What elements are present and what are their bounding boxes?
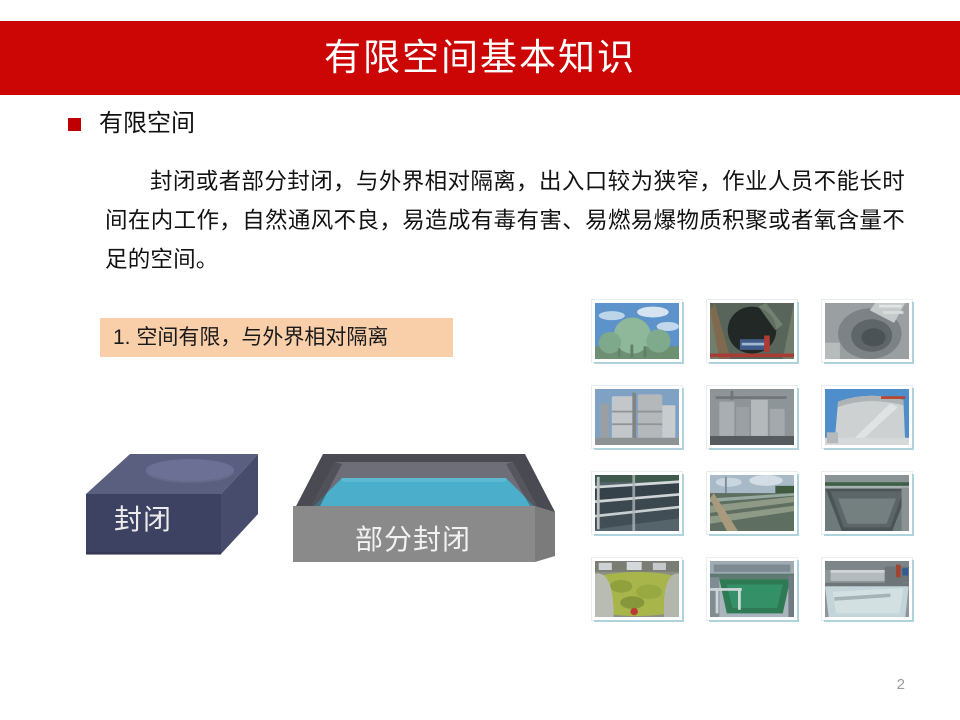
photo-thumbnail[interactable] bbox=[822, 300, 912, 362]
photo-thumbnail[interactable] bbox=[707, 386, 797, 448]
photo-thumbnail[interactable] bbox=[822, 386, 912, 448]
bullet-heading: 有限空间 bbox=[68, 112, 195, 136]
photo-thumbnail[interactable] bbox=[592, 558, 682, 620]
photo-open-aeration-pool bbox=[825, 561, 909, 617]
photo-tunnel-shaft-interior bbox=[710, 303, 794, 359]
highlight-callout-text: 1. 空间有限，与外界相对隔离 bbox=[100, 327, 388, 348]
square-bullet-icon bbox=[68, 118, 81, 131]
partially-closed-container-label: 部分封闭 bbox=[355, 526, 471, 554]
definition-paragraph: 封闭或者部分封闭，与外界相对隔离，出入口较为狭窄，作业人员不能长时间在内工作，自… bbox=[105, 162, 905, 279]
photo-thumbnail[interactable] bbox=[592, 472, 682, 534]
slide-canvas: 有限空间基本知识 有限空间 封闭或者部分封闭，与外界相对隔离，出入口较为狭窄，作… bbox=[0, 0, 960, 720]
closed-container-illustration bbox=[78, 452, 273, 567]
page-title: 有限空间基本知识 bbox=[324, 40, 636, 77]
photo-thumbnail[interactable] bbox=[592, 386, 682, 448]
photo-green-spherical-gas-tanks bbox=[595, 303, 679, 359]
page-number: 2 bbox=[897, 677, 905, 692]
photo-thumbnail[interactable] bbox=[707, 300, 797, 362]
photo-silage-compost-pit bbox=[595, 561, 679, 617]
photo-thumbnail[interactable] bbox=[707, 558, 797, 620]
photo-concrete-well-shaft bbox=[825, 303, 909, 359]
photo-thumbnail[interactable] bbox=[822, 558, 912, 620]
photo-metal-grain-silos bbox=[710, 389, 794, 445]
diagram-partially-closed-container: 部分封闭 bbox=[287, 452, 559, 572]
photo-large-white-storage-tank bbox=[825, 389, 909, 445]
diagram-closed-container: 封闭 bbox=[78, 452, 273, 567]
photo-industrial-storage-silos bbox=[595, 389, 679, 445]
photo-sedimentation-basin-outdoor bbox=[710, 475, 794, 531]
bullet-heading-label: 有限空间 bbox=[99, 112, 195, 136]
photo-grid bbox=[592, 300, 918, 623]
photo-thumbnail[interactable] bbox=[707, 472, 797, 534]
photo-thumbnail[interactable] bbox=[592, 300, 682, 362]
photo-covered-water-treatment-basins bbox=[595, 475, 679, 531]
photo-green-water-treatment-pool bbox=[710, 561, 794, 617]
highlight-callout-box: 1. 空间有限，与外界相对隔离 bbox=[100, 318, 453, 357]
photo-thumbnail[interactable] bbox=[822, 472, 912, 534]
closed-container-label: 封闭 bbox=[114, 506, 172, 534]
photo-concrete-aeration-tank bbox=[825, 475, 909, 531]
slide-title-bar: 有限空间基本知识 bbox=[0, 21, 960, 95]
